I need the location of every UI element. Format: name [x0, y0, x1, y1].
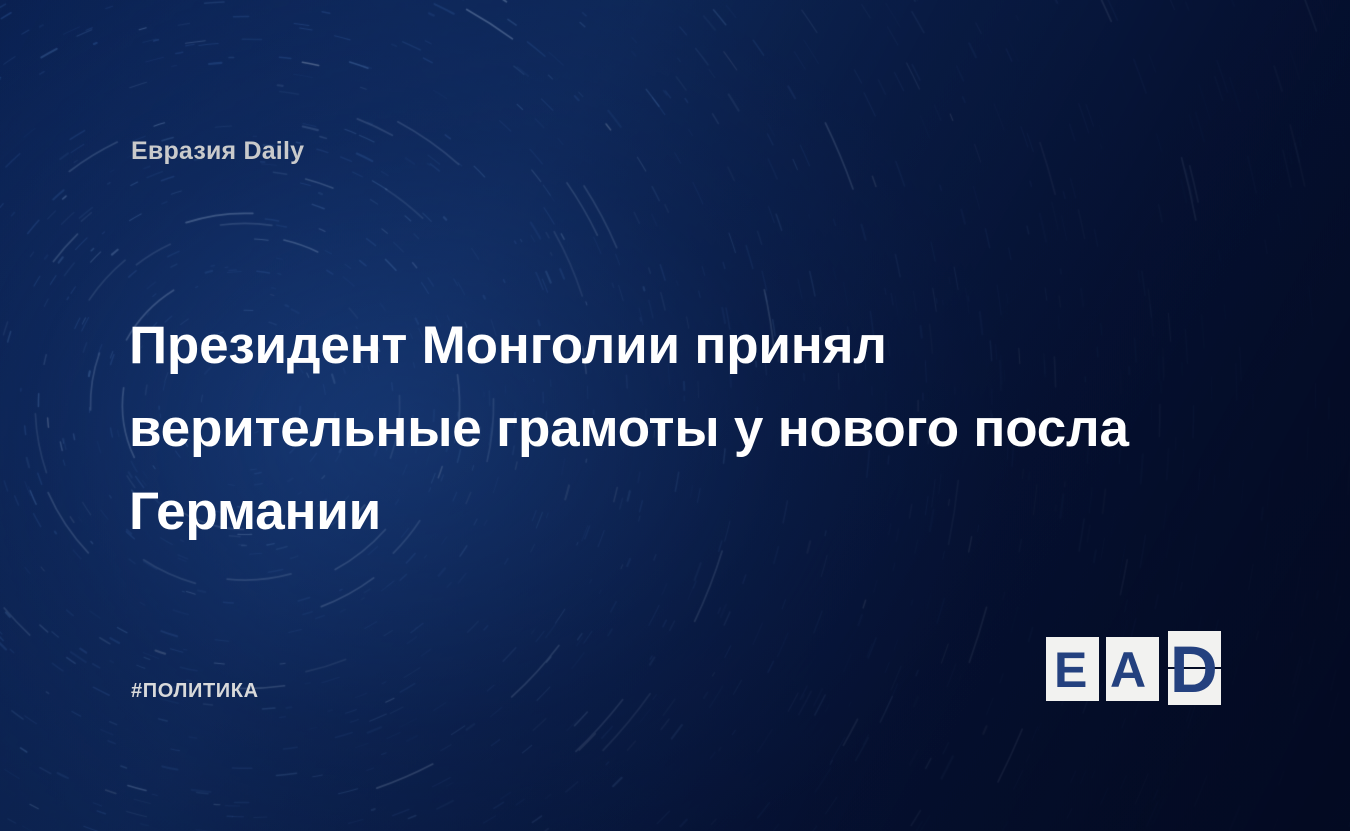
brand-wordmark: Евразия Daily [131, 137, 304, 166]
ead-logo[interactable]: E A D [1046, 631, 1226, 709]
logo-letter-e: E [1054, 645, 1087, 695]
card-content: Евразия Daily Президент Монголии принял … [0, 0, 1350, 831]
social-share-card: Евразия Daily Президент Монголии принял … [0, 0, 1350, 831]
category-tag[interactable]: #ПОЛИТИКА [131, 680, 259, 703]
logo-letter-d: D [1170, 636, 1218, 702]
page-title: Президент Монголии принял верительные гр… [129, 304, 1189, 553]
logo-letter-a: A [1110, 645, 1146, 695]
